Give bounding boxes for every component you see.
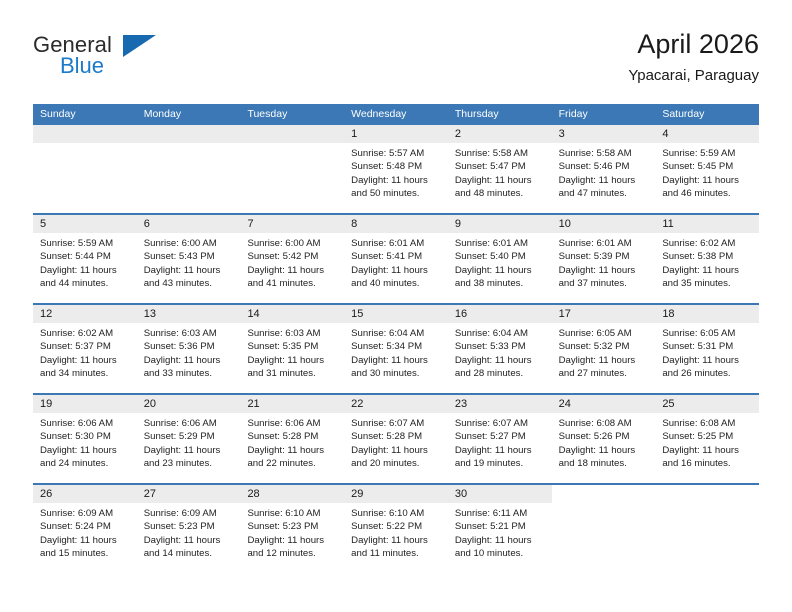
weekday-header-monday: Monday bbox=[137, 104, 241, 125]
day-number-band: 9 bbox=[448, 215, 552, 233]
day-number: 18 bbox=[655, 305, 759, 323]
day-cell-empty bbox=[33, 125, 137, 213]
day-detail-line: Sunrise: 5:59 AM bbox=[662, 147, 753, 160]
day-detail-line: Daylight: 11 hours bbox=[351, 174, 442, 187]
day-cell-11[interactable]: 11Sunrise: 6:02 AMSunset: 5:38 PMDayligh… bbox=[655, 215, 759, 303]
day-detail-line: and 30 minutes. bbox=[351, 367, 442, 380]
day-detail-line: and 31 minutes. bbox=[247, 367, 338, 380]
day-details: Sunrise: 6:00 AMSunset: 5:42 PMDaylight:… bbox=[240, 233, 344, 291]
day-cell-empty bbox=[655, 485, 759, 573]
week-cells: 26Sunrise: 6:09 AMSunset: 5:24 PMDayligh… bbox=[33, 485, 759, 573]
day-detail-line: Sunrise: 5:58 AM bbox=[559, 147, 650, 160]
day-details: Sunrise: 6:09 AMSunset: 5:24 PMDaylight:… bbox=[33, 503, 137, 561]
day-detail-line: Sunset: 5:42 PM bbox=[247, 250, 338, 263]
day-number: 12 bbox=[33, 305, 137, 323]
day-details: Sunrise: 6:09 AMSunset: 5:23 PMDaylight:… bbox=[137, 503, 241, 561]
calendar-week-container: 1Sunrise: 5:57 AMSunset: 5:48 PMDaylight… bbox=[33, 125, 759, 573]
day-number: 8 bbox=[344, 215, 448, 233]
weekday-header-tuesday: Tuesday bbox=[240, 104, 344, 125]
day-number-band bbox=[33, 125, 137, 143]
day-details: Sunrise: 6:07 AMSunset: 5:28 PMDaylight:… bbox=[344, 413, 448, 471]
day-detail-line: and 15 minutes. bbox=[40, 547, 131, 560]
calendar-week-row: 5Sunrise: 5:59 AMSunset: 5:44 PMDaylight… bbox=[33, 213, 759, 303]
day-cell-3[interactable]: 3Sunrise: 5:58 AMSunset: 5:46 PMDaylight… bbox=[552, 125, 656, 213]
day-details: Sunrise: 6:00 AMSunset: 5:43 PMDaylight:… bbox=[137, 233, 241, 291]
day-detail-line: Daylight: 11 hours bbox=[559, 354, 650, 367]
day-number: 30 bbox=[448, 485, 552, 503]
day-detail-line: Sunset: 5:40 PM bbox=[455, 250, 546, 263]
day-details: Sunrise: 5:57 AMSunset: 5:48 PMDaylight:… bbox=[344, 143, 448, 201]
day-details bbox=[552, 503, 656, 507]
day-detail-line: and 14 minutes. bbox=[144, 547, 235, 560]
day-detail-line: Sunset: 5:28 PM bbox=[351, 430, 442, 443]
day-detail-line: Sunrise: 6:02 AM bbox=[662, 237, 753, 250]
day-detail-line: and 12 minutes. bbox=[247, 547, 338, 560]
day-detail-line: and 37 minutes. bbox=[559, 277, 650, 290]
day-detail-line: Sunset: 5:24 PM bbox=[40, 520, 131, 533]
day-detail-line: Sunset: 5:48 PM bbox=[351, 160, 442, 173]
day-detail-line: Sunrise: 6:05 AM bbox=[662, 327, 753, 340]
day-number-band bbox=[655, 485, 759, 503]
day-details: Sunrise: 6:03 AMSunset: 5:35 PMDaylight:… bbox=[240, 323, 344, 381]
page-header: General Blue April 2026 Ypacarai, Paragu… bbox=[33, 28, 759, 98]
day-detail-line: Daylight: 11 hours bbox=[40, 264, 131, 277]
day-detail-line: Sunrise: 6:02 AM bbox=[40, 327, 131, 340]
day-number: 14 bbox=[240, 305, 344, 323]
day-number-band: 10 bbox=[552, 215, 656, 233]
day-detail-line: Sunset: 5:37 PM bbox=[40, 340, 131, 353]
day-detail-line: Sunrise: 6:06 AM bbox=[247, 417, 338, 430]
day-details: Sunrise: 6:10 AMSunset: 5:22 PMDaylight:… bbox=[344, 503, 448, 561]
day-detail-line: and 47 minutes. bbox=[559, 187, 650, 200]
day-detail-line: Sunset: 5:22 PM bbox=[351, 520, 442, 533]
day-detail-line: and 33 minutes. bbox=[144, 367, 235, 380]
day-detail-line: and 34 minutes. bbox=[40, 367, 131, 380]
day-detail-line: and 44 minutes. bbox=[40, 277, 131, 290]
day-details: Sunrise: 5:59 AMSunset: 5:45 PMDaylight:… bbox=[655, 143, 759, 201]
day-detail-line: Sunrise: 6:11 AM bbox=[455, 507, 546, 520]
day-number: 25 bbox=[655, 395, 759, 413]
day-detail-line: Sunset: 5:44 PM bbox=[40, 250, 131, 263]
day-details bbox=[655, 503, 759, 507]
day-number-band: 13 bbox=[137, 305, 241, 323]
day-detail-line: and 50 minutes. bbox=[351, 187, 442, 200]
day-cell-13[interactable]: 13Sunrise: 6:03 AMSunset: 5:36 PMDayligh… bbox=[137, 305, 241, 393]
day-detail-line: and 20 minutes. bbox=[351, 457, 442, 470]
day-detail-line: and 10 minutes. bbox=[455, 547, 546, 560]
day-detail-line: Sunrise: 6:01 AM bbox=[351, 237, 442, 250]
day-detail-line: and 24 minutes. bbox=[40, 457, 131, 470]
day-number-band: 7 bbox=[240, 215, 344, 233]
day-detail-line: Sunset: 5:23 PM bbox=[247, 520, 338, 533]
day-details: Sunrise: 6:02 AMSunset: 5:38 PMDaylight:… bbox=[655, 233, 759, 291]
calendar-page: General Blue April 2026 Ypacarai, Paragu… bbox=[0, 0, 792, 612]
day-number: 26 bbox=[33, 485, 137, 503]
day-number-band: 17 bbox=[552, 305, 656, 323]
day-detail-line: and 11 minutes. bbox=[351, 547, 442, 560]
calendar-week-row: 12Sunrise: 6:02 AMSunset: 5:37 PMDayligh… bbox=[33, 303, 759, 393]
weekday-header-row: SundayMondayTuesdayWednesdayThursdayFrid… bbox=[33, 104, 759, 125]
day-cell-22[interactable]: 22Sunrise: 6:07 AMSunset: 5:28 PMDayligh… bbox=[344, 395, 448, 483]
page-subtitle: Ypacarai, Paraguay bbox=[628, 66, 759, 86]
day-detail-line: Sunrise: 5:59 AM bbox=[40, 237, 131, 250]
day-number: 4 bbox=[655, 125, 759, 143]
day-detail-line: Daylight: 11 hours bbox=[455, 444, 546, 457]
day-detail-line: and 26 minutes. bbox=[662, 367, 753, 380]
day-details bbox=[33, 143, 137, 147]
day-detail-line: and 38 minutes. bbox=[455, 277, 546, 290]
day-details: Sunrise: 6:10 AMSunset: 5:23 PMDaylight:… bbox=[240, 503, 344, 561]
general-blue-logo[interactable]: General Blue bbox=[33, 32, 193, 88]
day-cell-5[interactable]: 5Sunrise: 5:59 AMSunset: 5:44 PMDaylight… bbox=[33, 215, 137, 303]
day-number: 11 bbox=[655, 215, 759, 233]
day-detail-line: Daylight: 11 hours bbox=[351, 264, 442, 277]
day-detail-line: Daylight: 11 hours bbox=[247, 264, 338, 277]
day-number-band: 22 bbox=[344, 395, 448, 413]
day-cell-empty bbox=[137, 125, 241, 213]
day-details: Sunrise: 5:59 AMSunset: 5:44 PMDaylight:… bbox=[33, 233, 137, 291]
day-details: Sunrise: 6:08 AMSunset: 5:26 PMDaylight:… bbox=[552, 413, 656, 471]
day-number: 5 bbox=[33, 215, 137, 233]
day-detail-line: Sunrise: 5:58 AM bbox=[455, 147, 546, 160]
day-detail-line: Sunrise: 6:08 AM bbox=[662, 417, 753, 430]
day-detail-line: Sunrise: 6:01 AM bbox=[455, 237, 546, 250]
day-details: Sunrise: 6:01 AMSunset: 5:41 PMDaylight:… bbox=[344, 233, 448, 291]
day-number-band: 2 bbox=[448, 125, 552, 143]
day-detail-line: Sunset: 5:38 PM bbox=[662, 250, 753, 263]
day-cell-19[interactable]: 19Sunrise: 6:06 AMSunset: 5:30 PMDayligh… bbox=[33, 395, 137, 483]
day-detail-line: Daylight: 11 hours bbox=[144, 444, 235, 457]
day-detail-line: Daylight: 11 hours bbox=[662, 354, 753, 367]
day-detail-line: Daylight: 11 hours bbox=[455, 264, 546, 277]
day-detail-line: Sunset: 5:29 PM bbox=[144, 430, 235, 443]
day-number-band bbox=[240, 125, 344, 143]
weekday-header-thursday: Thursday bbox=[448, 104, 552, 125]
day-number: 17 bbox=[552, 305, 656, 323]
day-detail-line: Sunset: 5:43 PM bbox=[144, 250, 235, 263]
day-detail-line: Sunrise: 6:03 AM bbox=[247, 327, 338, 340]
day-number-band: 24 bbox=[552, 395, 656, 413]
day-cell-25[interactable]: 25Sunrise: 6:08 AMSunset: 5:25 PMDayligh… bbox=[655, 395, 759, 483]
day-cell-14[interactable]: 14Sunrise: 6:03 AMSunset: 5:35 PMDayligh… bbox=[240, 305, 344, 393]
day-number-band: 23 bbox=[448, 395, 552, 413]
day-details: Sunrise: 6:01 AMSunset: 5:40 PMDaylight:… bbox=[448, 233, 552, 291]
day-detail-line: Sunset: 5:31 PM bbox=[662, 340, 753, 353]
day-detail-line: Daylight: 11 hours bbox=[40, 534, 131, 547]
day-number-band: 3 bbox=[552, 125, 656, 143]
day-detail-line: and 18 minutes. bbox=[559, 457, 650, 470]
day-number: 9 bbox=[448, 215, 552, 233]
day-detail-line: Sunset: 5:32 PM bbox=[559, 340, 650, 353]
day-detail-line: Sunrise: 6:05 AM bbox=[559, 327, 650, 340]
title-block: April 2026 Ypacarai, Paraguay bbox=[628, 28, 759, 86]
day-detail-line: Sunrise: 6:00 AM bbox=[144, 237, 235, 250]
day-detail-line: Daylight: 11 hours bbox=[351, 354, 442, 367]
day-number-band: 30 bbox=[448, 485, 552, 503]
day-cell-1[interactable]: 1Sunrise: 5:57 AMSunset: 5:48 PMDaylight… bbox=[344, 125, 448, 213]
day-cell-28[interactable]: 28Sunrise: 6:10 AMSunset: 5:23 PMDayligh… bbox=[240, 485, 344, 573]
day-number-band: 25 bbox=[655, 395, 759, 413]
day-details: Sunrise: 6:05 AMSunset: 5:32 PMDaylight:… bbox=[552, 323, 656, 381]
day-detail-line: Sunset: 5:27 PM bbox=[455, 430, 546, 443]
calendar-week-row: 1Sunrise: 5:57 AMSunset: 5:48 PMDaylight… bbox=[33, 125, 759, 213]
day-detail-line: and 41 minutes. bbox=[247, 277, 338, 290]
day-number: 23 bbox=[448, 395, 552, 413]
day-detail-line: Sunset: 5:36 PM bbox=[144, 340, 235, 353]
day-detail-line: Sunset: 5:45 PM bbox=[662, 160, 753, 173]
day-details: Sunrise: 6:06 AMSunset: 5:28 PMDaylight:… bbox=[240, 413, 344, 471]
day-cell-26[interactable]: 26Sunrise: 6:09 AMSunset: 5:24 PMDayligh… bbox=[33, 485, 137, 573]
day-detail-line: Sunrise: 6:04 AM bbox=[455, 327, 546, 340]
day-details bbox=[137, 143, 241, 147]
day-detail-line: Daylight: 11 hours bbox=[662, 174, 753, 187]
day-detail-line: Daylight: 11 hours bbox=[455, 174, 546, 187]
day-detail-line: Sunset: 5:35 PM bbox=[247, 340, 338, 353]
day-details: Sunrise: 6:06 AMSunset: 5:29 PMDaylight:… bbox=[137, 413, 241, 471]
day-number-band: 20 bbox=[137, 395, 241, 413]
day-detail-line: and 16 minutes. bbox=[662, 457, 753, 470]
day-detail-line: Sunset: 5:46 PM bbox=[559, 160, 650, 173]
week-cells: 1Sunrise: 5:57 AMSunset: 5:48 PMDaylight… bbox=[33, 125, 759, 213]
day-detail-line: Sunrise: 6:03 AM bbox=[144, 327, 235, 340]
day-details: Sunrise: 6:07 AMSunset: 5:27 PMDaylight:… bbox=[448, 413, 552, 471]
calendar-grid: SundayMondayTuesdayWednesdayThursdayFrid… bbox=[33, 104, 759, 573]
day-cell-12[interactable]: 12Sunrise: 6:02 AMSunset: 5:37 PMDayligh… bbox=[33, 305, 137, 393]
day-detail-line: Sunset: 5:34 PM bbox=[351, 340, 442, 353]
day-cell-8[interactable]: 8Sunrise: 6:01 AMSunset: 5:41 PMDaylight… bbox=[344, 215, 448, 303]
day-detail-line: Daylight: 11 hours bbox=[455, 354, 546, 367]
day-detail-line: Daylight: 11 hours bbox=[144, 264, 235, 277]
weekday-header-friday: Friday bbox=[552, 104, 656, 125]
day-number: 6 bbox=[137, 215, 241, 233]
day-cell-9[interactable]: 9Sunrise: 6:01 AMSunset: 5:40 PMDaylight… bbox=[448, 215, 552, 303]
day-detail-line: Sunrise: 6:10 AM bbox=[247, 507, 338, 520]
day-cell-29[interactable]: 29Sunrise: 6:10 AMSunset: 5:22 PMDayligh… bbox=[344, 485, 448, 573]
page-title: April 2026 bbox=[628, 28, 759, 60]
day-detail-line: Daylight: 11 hours bbox=[40, 354, 131, 367]
day-number-band: 12 bbox=[33, 305, 137, 323]
day-details bbox=[240, 143, 344, 147]
calendar-week-row: 19Sunrise: 6:06 AMSunset: 5:30 PMDayligh… bbox=[33, 393, 759, 483]
day-detail-line: Sunset: 5:47 PM bbox=[455, 160, 546, 173]
day-detail-line: and 43 minutes. bbox=[144, 277, 235, 290]
day-detail-line: Sunset: 5:30 PM bbox=[40, 430, 131, 443]
day-details: Sunrise: 6:08 AMSunset: 5:25 PMDaylight:… bbox=[655, 413, 759, 471]
day-number: 3 bbox=[552, 125, 656, 143]
day-cell-10[interactable]: 10Sunrise: 6:01 AMSunset: 5:39 PMDayligh… bbox=[552, 215, 656, 303]
day-details: Sunrise: 6:02 AMSunset: 5:37 PMDaylight:… bbox=[33, 323, 137, 381]
day-detail-line: and 27 minutes. bbox=[559, 367, 650, 380]
day-cell-18[interactable]: 18Sunrise: 6:05 AMSunset: 5:31 PMDayligh… bbox=[655, 305, 759, 393]
triangle-logo-icon bbox=[123, 35, 156, 57]
day-detail-line: and 40 minutes. bbox=[351, 277, 442, 290]
day-number-band: 16 bbox=[448, 305, 552, 323]
day-number: 27 bbox=[137, 485, 241, 503]
day-detail-line: Daylight: 11 hours bbox=[455, 534, 546, 547]
day-number-band: 19 bbox=[33, 395, 137, 413]
day-cell-23[interactable]: 23Sunrise: 6:07 AMSunset: 5:27 PMDayligh… bbox=[448, 395, 552, 483]
day-number-band: 1 bbox=[344, 125, 448, 143]
day-number: 29 bbox=[344, 485, 448, 503]
day-detail-line: Sunrise: 6:01 AM bbox=[559, 237, 650, 250]
day-cell-20[interactable]: 20Sunrise: 6:06 AMSunset: 5:29 PMDayligh… bbox=[137, 395, 241, 483]
day-detail-line: Sunrise: 6:09 AM bbox=[40, 507, 131, 520]
day-detail-line: and 23 minutes. bbox=[144, 457, 235, 470]
day-number-band: 15 bbox=[344, 305, 448, 323]
day-detail-line: Sunset: 5:28 PM bbox=[247, 430, 338, 443]
day-detail-line: Sunrise: 6:07 AM bbox=[455, 417, 546, 430]
day-detail-line: Sunset: 5:41 PM bbox=[351, 250, 442, 263]
day-detail-line: Sunrise: 6:06 AM bbox=[40, 417, 131, 430]
day-details: Sunrise: 6:04 AMSunset: 5:33 PMDaylight:… bbox=[448, 323, 552, 381]
day-detail-line: Daylight: 11 hours bbox=[144, 354, 235, 367]
day-detail-line: Sunrise: 6:08 AM bbox=[559, 417, 650, 430]
day-detail-line: Daylight: 11 hours bbox=[662, 264, 753, 277]
day-detail-line: Daylight: 11 hours bbox=[247, 534, 338, 547]
day-detail-line: Daylight: 11 hours bbox=[351, 444, 442, 457]
day-number-band: 14 bbox=[240, 305, 344, 323]
day-number-band: 8 bbox=[344, 215, 448, 233]
day-number: 20 bbox=[137, 395, 241, 413]
day-cell-2[interactable]: 2Sunrise: 5:58 AMSunset: 5:47 PMDaylight… bbox=[448, 125, 552, 213]
day-detail-line: Sunset: 5:33 PM bbox=[455, 340, 546, 353]
day-cell-24[interactable]: 24Sunrise: 6:08 AMSunset: 5:26 PMDayligh… bbox=[552, 395, 656, 483]
day-detail-line: Sunset: 5:39 PM bbox=[559, 250, 650, 263]
day-cell-empty bbox=[240, 125, 344, 213]
day-details: Sunrise: 6:04 AMSunset: 5:34 PMDaylight:… bbox=[344, 323, 448, 381]
day-detail-line: Sunrise: 6:06 AM bbox=[144, 417, 235, 430]
day-number-band: 4 bbox=[655, 125, 759, 143]
day-detail-line: Daylight: 11 hours bbox=[247, 354, 338, 367]
weekday-header-sunday: Sunday bbox=[33, 104, 137, 125]
day-detail-line: Sunset: 5:23 PM bbox=[144, 520, 235, 533]
day-number-band: 28 bbox=[240, 485, 344, 503]
day-number-band bbox=[552, 485, 656, 503]
day-detail-line: Sunset: 5:26 PM bbox=[559, 430, 650, 443]
day-details: Sunrise: 6:05 AMSunset: 5:31 PMDaylight:… bbox=[655, 323, 759, 381]
day-number: 2 bbox=[448, 125, 552, 143]
day-detail-line: Sunrise: 5:57 AM bbox=[351, 147, 442, 160]
day-number-band: 5 bbox=[33, 215, 137, 233]
day-number: 15 bbox=[344, 305, 448, 323]
day-details: Sunrise: 6:01 AMSunset: 5:39 PMDaylight:… bbox=[552, 233, 656, 291]
day-detail-line: Sunset: 5:21 PM bbox=[455, 520, 546, 533]
day-detail-line: Sunrise: 6:10 AM bbox=[351, 507, 442, 520]
day-details: Sunrise: 6:03 AMSunset: 5:36 PMDaylight:… bbox=[137, 323, 241, 381]
day-cell-30[interactable]: 30Sunrise: 6:11 AMSunset: 5:21 PMDayligh… bbox=[448, 485, 552, 573]
day-cell-16[interactable]: 16Sunrise: 6:04 AMSunset: 5:33 PMDayligh… bbox=[448, 305, 552, 393]
logo-text-blue: Blue bbox=[60, 53, 104, 79]
day-number: 21 bbox=[240, 395, 344, 413]
day-number-band: 18 bbox=[655, 305, 759, 323]
day-detail-line: and 28 minutes. bbox=[455, 367, 546, 380]
day-cell-7[interactable]: 7Sunrise: 6:00 AMSunset: 5:42 PMDaylight… bbox=[240, 215, 344, 303]
day-detail-line: and 46 minutes. bbox=[662, 187, 753, 200]
day-cell-17[interactable]: 17Sunrise: 6:05 AMSunset: 5:32 PMDayligh… bbox=[552, 305, 656, 393]
weekday-header-saturday: Saturday bbox=[655, 104, 759, 125]
day-detail-line: Daylight: 11 hours bbox=[662, 444, 753, 457]
day-details: Sunrise: 6:06 AMSunset: 5:30 PMDaylight:… bbox=[33, 413, 137, 471]
day-number: 1 bbox=[344, 125, 448, 143]
day-cell-21[interactable]: 21Sunrise: 6:06 AMSunset: 5:28 PMDayligh… bbox=[240, 395, 344, 483]
day-detail-line: Sunset: 5:25 PM bbox=[662, 430, 753, 443]
day-detail-line: Sunrise: 6:04 AM bbox=[351, 327, 442, 340]
day-detail-line: Daylight: 11 hours bbox=[559, 174, 650, 187]
day-detail-line: Daylight: 11 hours bbox=[40, 444, 131, 457]
day-detail-line: Sunrise: 6:00 AM bbox=[247, 237, 338, 250]
day-number-band: 6 bbox=[137, 215, 241, 233]
weekday-header-wednesday: Wednesday bbox=[344, 104, 448, 125]
day-detail-line: and 22 minutes. bbox=[247, 457, 338, 470]
week-cells: 5Sunrise: 5:59 AMSunset: 5:44 PMDaylight… bbox=[33, 215, 759, 303]
day-detail-line: Daylight: 11 hours bbox=[351, 534, 442, 547]
day-cell-6[interactable]: 6Sunrise: 6:00 AMSunset: 5:43 PMDaylight… bbox=[137, 215, 241, 303]
day-detail-line: and 19 minutes. bbox=[455, 457, 546, 470]
day-detail-line: Sunrise: 6:07 AM bbox=[351, 417, 442, 430]
day-number: 24 bbox=[552, 395, 656, 413]
day-cell-4[interactable]: 4Sunrise: 5:59 AMSunset: 5:45 PMDaylight… bbox=[655, 125, 759, 213]
week-cells: 19Sunrise: 6:06 AMSunset: 5:30 PMDayligh… bbox=[33, 395, 759, 483]
day-cell-15[interactable]: 15Sunrise: 6:04 AMSunset: 5:34 PMDayligh… bbox=[344, 305, 448, 393]
day-number-band: 21 bbox=[240, 395, 344, 413]
day-details: Sunrise: 5:58 AMSunset: 5:47 PMDaylight:… bbox=[448, 143, 552, 201]
day-number: 22 bbox=[344, 395, 448, 413]
day-number: 16 bbox=[448, 305, 552, 323]
day-detail-line: Sunrise: 6:09 AM bbox=[144, 507, 235, 520]
day-number: 7 bbox=[240, 215, 344, 233]
week-cells: 12Sunrise: 6:02 AMSunset: 5:37 PMDayligh… bbox=[33, 305, 759, 393]
day-cell-27[interactable]: 27Sunrise: 6:09 AMSunset: 5:23 PMDayligh… bbox=[137, 485, 241, 573]
day-detail-line: and 35 minutes. bbox=[662, 277, 753, 290]
day-details: Sunrise: 6:11 AMSunset: 5:21 PMDaylight:… bbox=[448, 503, 552, 561]
day-number-band: 29 bbox=[344, 485, 448, 503]
day-detail-line: Daylight: 11 hours bbox=[247, 444, 338, 457]
day-number-band bbox=[137, 125, 241, 143]
day-detail-line: and 48 minutes. bbox=[455, 187, 546, 200]
day-number: 10 bbox=[552, 215, 656, 233]
calendar-week-row: 26Sunrise: 6:09 AMSunset: 5:24 PMDayligh… bbox=[33, 483, 759, 573]
day-detail-line: Daylight: 11 hours bbox=[559, 264, 650, 277]
day-number-band: 27 bbox=[137, 485, 241, 503]
day-number: 13 bbox=[137, 305, 241, 323]
day-number: 28 bbox=[240, 485, 344, 503]
day-details: Sunrise: 5:58 AMSunset: 5:46 PMDaylight:… bbox=[552, 143, 656, 201]
day-number: 19 bbox=[33, 395, 137, 413]
day-number-band: 26 bbox=[33, 485, 137, 503]
day-cell-empty bbox=[552, 485, 656, 573]
day-number-band: 11 bbox=[655, 215, 759, 233]
day-detail-line: Daylight: 11 hours bbox=[559, 444, 650, 457]
day-detail-line: Daylight: 11 hours bbox=[144, 534, 235, 547]
